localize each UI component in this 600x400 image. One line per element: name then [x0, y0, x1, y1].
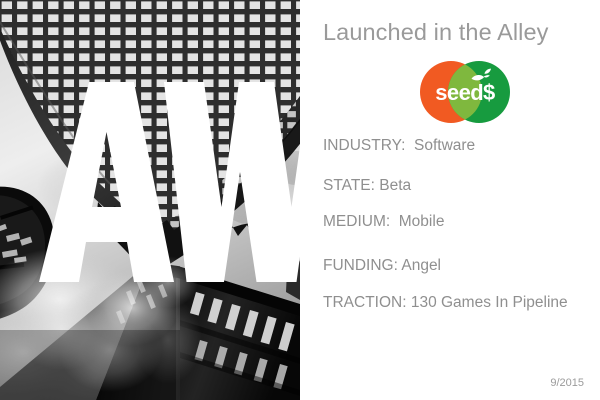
alleywatch-monogram-icon	[24, 0, 300, 382]
slide-date: 9/2015	[550, 378, 584, 389]
info-row-industry: INDUSTRY: Software	[323, 138, 475, 154]
alleywatch-logo: AlleyWatch	[24, 0, 300, 382]
info-row-state: STATE: Beta	[323, 178, 411, 194]
info-panel: Launched in the Alley	[300, 0, 600, 400]
company-logo: seed$	[415, 58, 515, 126]
info-row-funding: FUNDING: Angel	[323, 258, 441, 274]
architecture-photo: AlleyWatch	[0, 0, 300, 400]
info-row-traction: TRACTION: 130 Games In Pipeline	[323, 295, 568, 311]
slide-canvas: AlleyWatch Launched in the Alley	[0, 0, 600, 400]
seeds-logo-artwork: seed$	[415, 58, 515, 126]
seeds-wordmark: seed$	[435, 80, 495, 105]
page-title: Launched in the Alley	[323, 21, 549, 45]
info-row-medium: MEDIUM: Mobile	[323, 214, 444, 230]
